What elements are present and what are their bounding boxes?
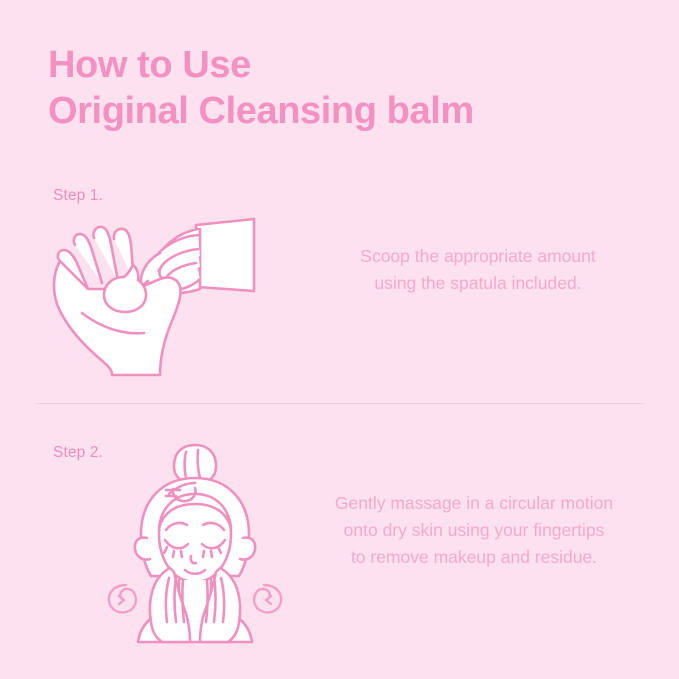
step-1-description: Scoop the appropriate amount using the s… bbox=[318, 243, 638, 297]
step-2-description-line-2: onto dry skin using your fingertips bbox=[300, 517, 648, 544]
woman-massaging-face-icon bbox=[100, 442, 290, 642]
step-1-section: Step 1. bbox=[0, 175, 679, 385]
hands-scooping-balm-with-spatula-icon bbox=[48, 195, 298, 375]
title-line-1: How to Use bbox=[48, 42, 628, 88]
step-2-label: Step 2. bbox=[53, 444, 103, 462]
step-2-description: Gently massage in a circular motion onto… bbox=[300, 490, 648, 571]
section-divider bbox=[36, 403, 643, 404]
step-1-description-line-1: Scoop the appropriate amount bbox=[318, 243, 638, 270]
page-title: How to Use Original Cleansing balm bbox=[48, 42, 628, 134]
step-1-description-line-2: using the spatula included. bbox=[318, 270, 638, 297]
step-2-description-line-1: Gently massage in a circular motion bbox=[300, 490, 648, 517]
step-2-section: Step 2. bbox=[0, 432, 679, 647]
step-2-description-line-3: to remove makeup and residue. bbox=[300, 544, 648, 571]
title-line-2: Original Cleansing balm bbox=[48, 88, 628, 134]
how-to-use-infographic: How to Use Original Cleansing balm Step … bbox=[0, 0, 679, 679]
